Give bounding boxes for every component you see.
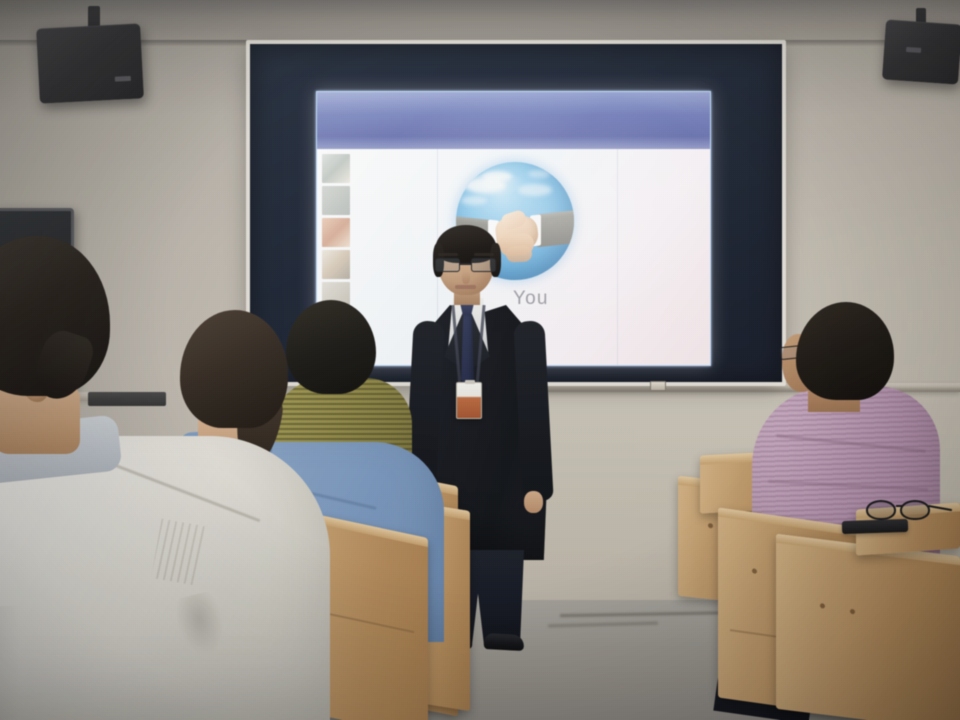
cloud: [461, 196, 487, 205]
presenter-brow-left: [438, 253, 458, 256]
presenter-brow-right: [474, 253, 494, 256]
glasses-temple: [928, 505, 952, 512]
attendee-man-white-shirt: [0, 236, 390, 720]
presenter-mouth: [455, 285, 476, 289]
photo-scene: You: [0, 0, 960, 720]
slide-seam: [617, 149, 618, 366]
speaker-body: [882, 19, 960, 84]
cloud: [528, 170, 550, 178]
glasses-lens-left: [435, 258, 460, 272]
globe-highlight: [470, 172, 524, 198]
speaker-port: [115, 76, 131, 82]
screen-control-panel: [650, 381, 666, 391]
shirt-side-shadow: [0, 606, 20, 720]
slide-header-band: [317, 92, 710, 149]
presenter-shoe-right: [484, 633, 525, 651]
pew-stud: [850, 609, 855, 615]
glasses-bridge: [896, 505, 902, 507]
glasses-lens-left: [866, 500, 896, 520]
presenter-id-badge: [456, 382, 482, 419]
speaker-port: [906, 47, 921, 53]
pew-stud: [820, 603, 825, 609]
badge-clip: [465, 380, 475, 384]
glasses-lens-right: [471, 258, 496, 272]
pew-stud: [752, 568, 757, 574]
slide-thumbnail: [322, 186, 350, 215]
ceiling-speaker-left-icon: [38, 6, 168, 106]
pew-right-front: [776, 534, 960, 720]
presenter-nose: [462, 271, 470, 284]
eyeglasses-on-bench-icon: [866, 496, 952, 530]
pew-stud: [708, 523, 713, 529]
presenter-necktie: [461, 314, 474, 388]
glasses-lens-right: [900, 500, 930, 520]
glasses-bridge: [460, 263, 471, 265]
ceiling-speaker-right-icon: [884, 8, 960, 88]
attendee-hair: [796, 302, 894, 400]
speaker-body: [36, 23, 144, 103]
slide-thumbnail: [322, 154, 350, 183]
presenter-hand-right: [524, 491, 543, 513]
